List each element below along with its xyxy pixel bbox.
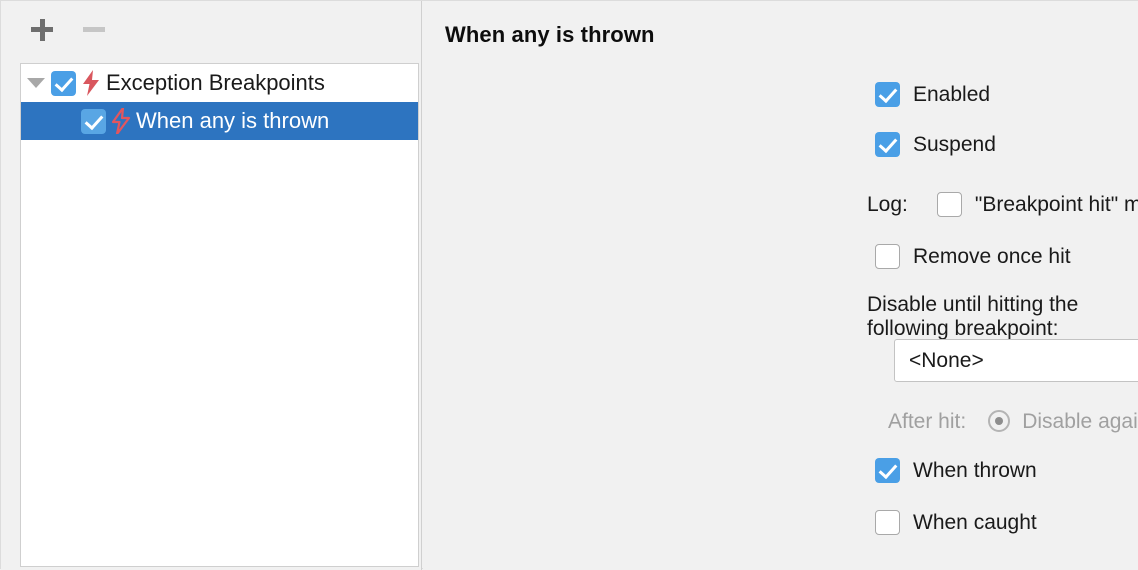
tree-toolbar xyxy=(1,1,422,61)
remove-once-hit-row[interactable]: Remove once hit xyxy=(875,244,1071,269)
breakpoints-dialog: Exception Breakpoints When any is thrown… xyxy=(0,0,1138,569)
dependent-breakpoint-field[interactable]: <None> xyxy=(894,339,1138,382)
tree-node-checkbox[interactable] xyxy=(81,109,106,134)
tree-node-label: When any is thrown xyxy=(136,110,329,132)
log-label: Log: xyxy=(867,194,908,215)
when-caught-row[interactable]: When caught xyxy=(875,510,1037,535)
after-hit-row: After hit: Disable again Leave enabled xyxy=(888,410,1138,432)
lightning-bolt-outline-icon xyxy=(106,108,136,134)
enabled-checkbox[interactable] xyxy=(875,82,900,107)
tree-node-label: Exception Breakpoints xyxy=(106,72,325,94)
remove-breakpoint-button[interactable] xyxy=(77,12,111,46)
after-hit-disable-again-radio[interactable] xyxy=(988,410,1010,432)
breakpoint-details-pane: When any is thrown Enabled Suspend Log: … xyxy=(423,1,1138,570)
log-options-row: Log: "Breakpoint hit" message Stack trac… xyxy=(867,192,1138,217)
breakpoints-tree[interactable]: Exception Breakpoints When any is thrown xyxy=(20,63,419,567)
when-caught-checkbox[interactable] xyxy=(875,510,900,535)
triangle-down-icon[interactable] xyxy=(21,78,51,88)
lightning-bolt-filled-icon xyxy=(76,70,106,96)
after-hit-disable-again-label: Disable again xyxy=(1022,411,1138,432)
plus-icon-stem xyxy=(40,19,45,41)
tree-node-checkbox[interactable] xyxy=(51,71,76,96)
tree-row[interactable]: When any is thrown xyxy=(21,102,418,140)
disable-until-label: Disable until hitting the following brea… xyxy=(867,293,1138,341)
suspend-label: Suspend xyxy=(913,134,996,155)
when-thrown-label: When thrown xyxy=(913,460,1037,481)
suspend-checkbox[interactable] xyxy=(875,132,900,157)
minus-icon xyxy=(83,27,105,32)
enabled-checkbox-row[interactable]: Enabled xyxy=(875,82,990,107)
breakpoints-list-pane: Exception Breakpoints When any is thrown xyxy=(1,1,422,570)
log-breakpoint-hit-message-label: "Breakpoint hit" message xyxy=(975,194,1138,215)
page-title: When any is thrown xyxy=(445,22,655,48)
after-hit-label: After hit: xyxy=(888,411,966,432)
add-breakpoint-button[interactable] xyxy=(25,12,59,46)
enabled-label: Enabled xyxy=(913,84,990,105)
remove-once-hit-label: Remove once hit xyxy=(913,246,1071,267)
when-thrown-row[interactable]: When thrown xyxy=(875,458,1037,483)
when-caught-label: When caught xyxy=(913,512,1037,533)
tree-row[interactable]: Exception Breakpoints xyxy=(21,64,418,102)
when-thrown-checkbox[interactable] xyxy=(875,458,900,483)
log-breakpoint-hit-message-checkbox[interactable] xyxy=(937,192,962,217)
remove-once-hit-checkbox[interactable] xyxy=(875,244,900,269)
suspend-checkbox-row[interactable]: Suspend xyxy=(875,132,996,157)
